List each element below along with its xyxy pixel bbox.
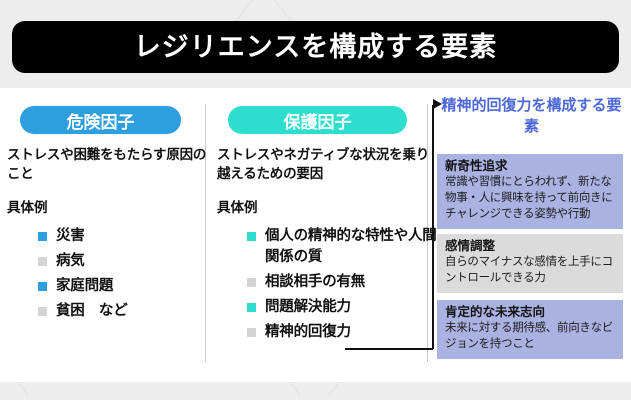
slide-title-bar: レジリエンスを構成する要素	[12, 21, 619, 73]
card-body: 未来に対する期待感、前向きなビジョンを持つこと	[445, 321, 615, 353]
list-item: 家庭問題	[38, 276, 198, 297]
card-body: 自らのマイナスな感情を上手にコントロールできる力	[445, 255, 615, 287]
resilience-card-emotion-regulation: 感情調整 自らのマイナスな感情を上手にコントロールできる力	[437, 234, 623, 293]
list-item: 個人の精神的な特性や人間関係の質	[247, 226, 437, 268]
bullet-square-icon	[247, 303, 256, 312]
resilience-card-positive-future-orientation: 肯定的な未来志向 未来に対する期待感、前向きなビジョンを持つこと	[437, 300, 623, 359]
protective-examples-label: 具体例	[217, 196, 258, 216]
list-item-label: 相談相手の有無	[265, 272, 365, 293]
connector-line-vertical	[432, 105, 434, 349]
page-title: レジリエンスを構成する要素	[134, 34, 497, 61]
list-item: 問題解決能力	[247, 297, 437, 318]
list-item-label: 病気	[56, 251, 85, 272]
bullet-square-icon	[247, 232, 256, 241]
content-panel: 危険因子 ストレスや困難をもたらす原因のこと 具体例 災害 病気 家庭問題	[0, 88, 631, 382]
list-item-label: 問題解決能力	[265, 297, 351, 318]
connector-line-horizontal	[345, 348, 433, 350]
protective-examples-list: 個人の精神的な特性や人間関係の質 相談相手の有無 問題解決能力 精神的回復力	[247, 226, 437, 347]
list-item: 相談相手の有無	[247, 272, 437, 293]
resilience-heading: 精神的回復力を構成する要素	[439, 96, 624, 137]
slide-canvas: レジリエンスを構成する要素 危険因子 ストレスや困難をもたらす原因のこと 具体例…	[0, 0, 631, 400]
card-body: 常識や習慣にとらわれず、新たな物事・人に興味を持って前向きにチャレンジできる姿勢…	[445, 175, 615, 223]
protective-factors-pill: 保護因子	[228, 106, 407, 134]
card-title: 肯定的な未来志向	[445, 304, 615, 320]
card-title: 感情調整	[445, 238, 615, 254]
bullet-square-icon	[38, 232, 47, 241]
list-item: 貧困 など	[38, 301, 198, 322]
bullet-square-icon	[38, 257, 47, 266]
card-title: 新奇性追求	[445, 158, 615, 174]
list-item-label: 災害	[56, 226, 85, 247]
protective-factors-description: ストレスやネガティブな状況を乗り越えるための要因	[217, 145, 432, 183]
bullet-square-icon	[38, 307, 47, 316]
list-item: 病気	[38, 251, 198, 272]
risk-factors-pill: 危険因子	[20, 106, 181, 134]
resilience-card-novelty-seeking: 新奇性追求 常識や習慣にとらわれず、新たな物事・人に興味を持って前向きにチャレン…	[437, 154, 623, 229]
bullet-square-icon	[38, 282, 47, 291]
risk-examples-label: 具体例	[7, 196, 48, 216]
list-item-label: 貧困 など	[56, 301, 128, 322]
column-divider-left	[205, 104, 206, 362]
list-item-label: 精神的回復力	[265, 322, 351, 343]
bullet-square-icon	[247, 278, 256, 287]
risk-factors-description: ストレスや困難をもたらす原因のこと	[7, 145, 207, 183]
list-item-label: 個人の精神的な特性や人間関係の質	[265, 226, 437, 268]
list-item: 災害	[38, 226, 198, 247]
bullet-square-icon	[247, 328, 256, 337]
risk-examples-list: 災害 病気 家庭問題 貧困 など	[38, 226, 198, 326]
list-item-label: 家庭問題	[56, 276, 113, 297]
list-item-resilience: 精神的回復力	[247, 322, 437, 343]
